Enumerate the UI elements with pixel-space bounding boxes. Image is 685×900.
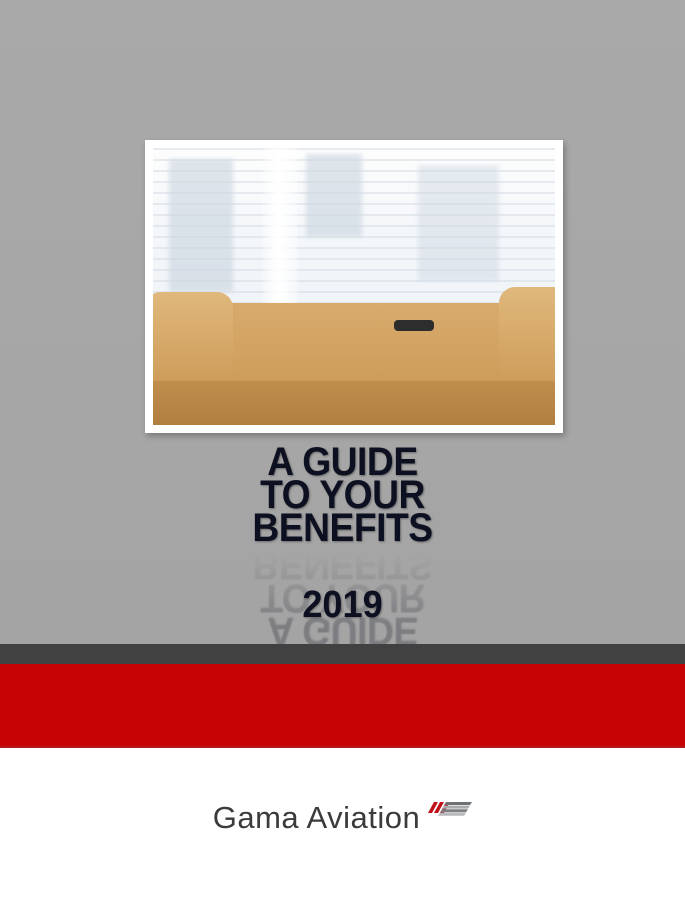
couch-seat bbox=[153, 381, 555, 425]
cover-title: A GUIDE TO YOUR BENEFITS bbox=[0, 446, 685, 545]
dark-divider-band bbox=[0, 644, 685, 664]
family-photo bbox=[153, 148, 555, 425]
title-line-3: BENEFITS bbox=[24, 512, 661, 545]
cover-photo-frame bbox=[145, 140, 563, 433]
cover-page: A GUIDE TO YOUR BENEFITS A GUIDE TO YOUR… bbox=[0, 0, 685, 900]
brand-logo: Gama Aviation bbox=[0, 800, 685, 836]
gama-aviation-stripes-mark bbox=[426, 800, 472, 820]
tv-remote bbox=[394, 320, 434, 331]
cover-year: 2019 bbox=[0, 585, 685, 625]
year-text: 2019 bbox=[17, 585, 668, 625]
footer: Gama Aviation bbox=[0, 748, 685, 900]
couch-cushion-right bbox=[499, 287, 555, 376]
brand-logo-text: Gama Aviation bbox=[213, 800, 421, 836]
couch-cushion-left bbox=[153, 292, 233, 375]
red-accent-band bbox=[0, 664, 685, 748]
